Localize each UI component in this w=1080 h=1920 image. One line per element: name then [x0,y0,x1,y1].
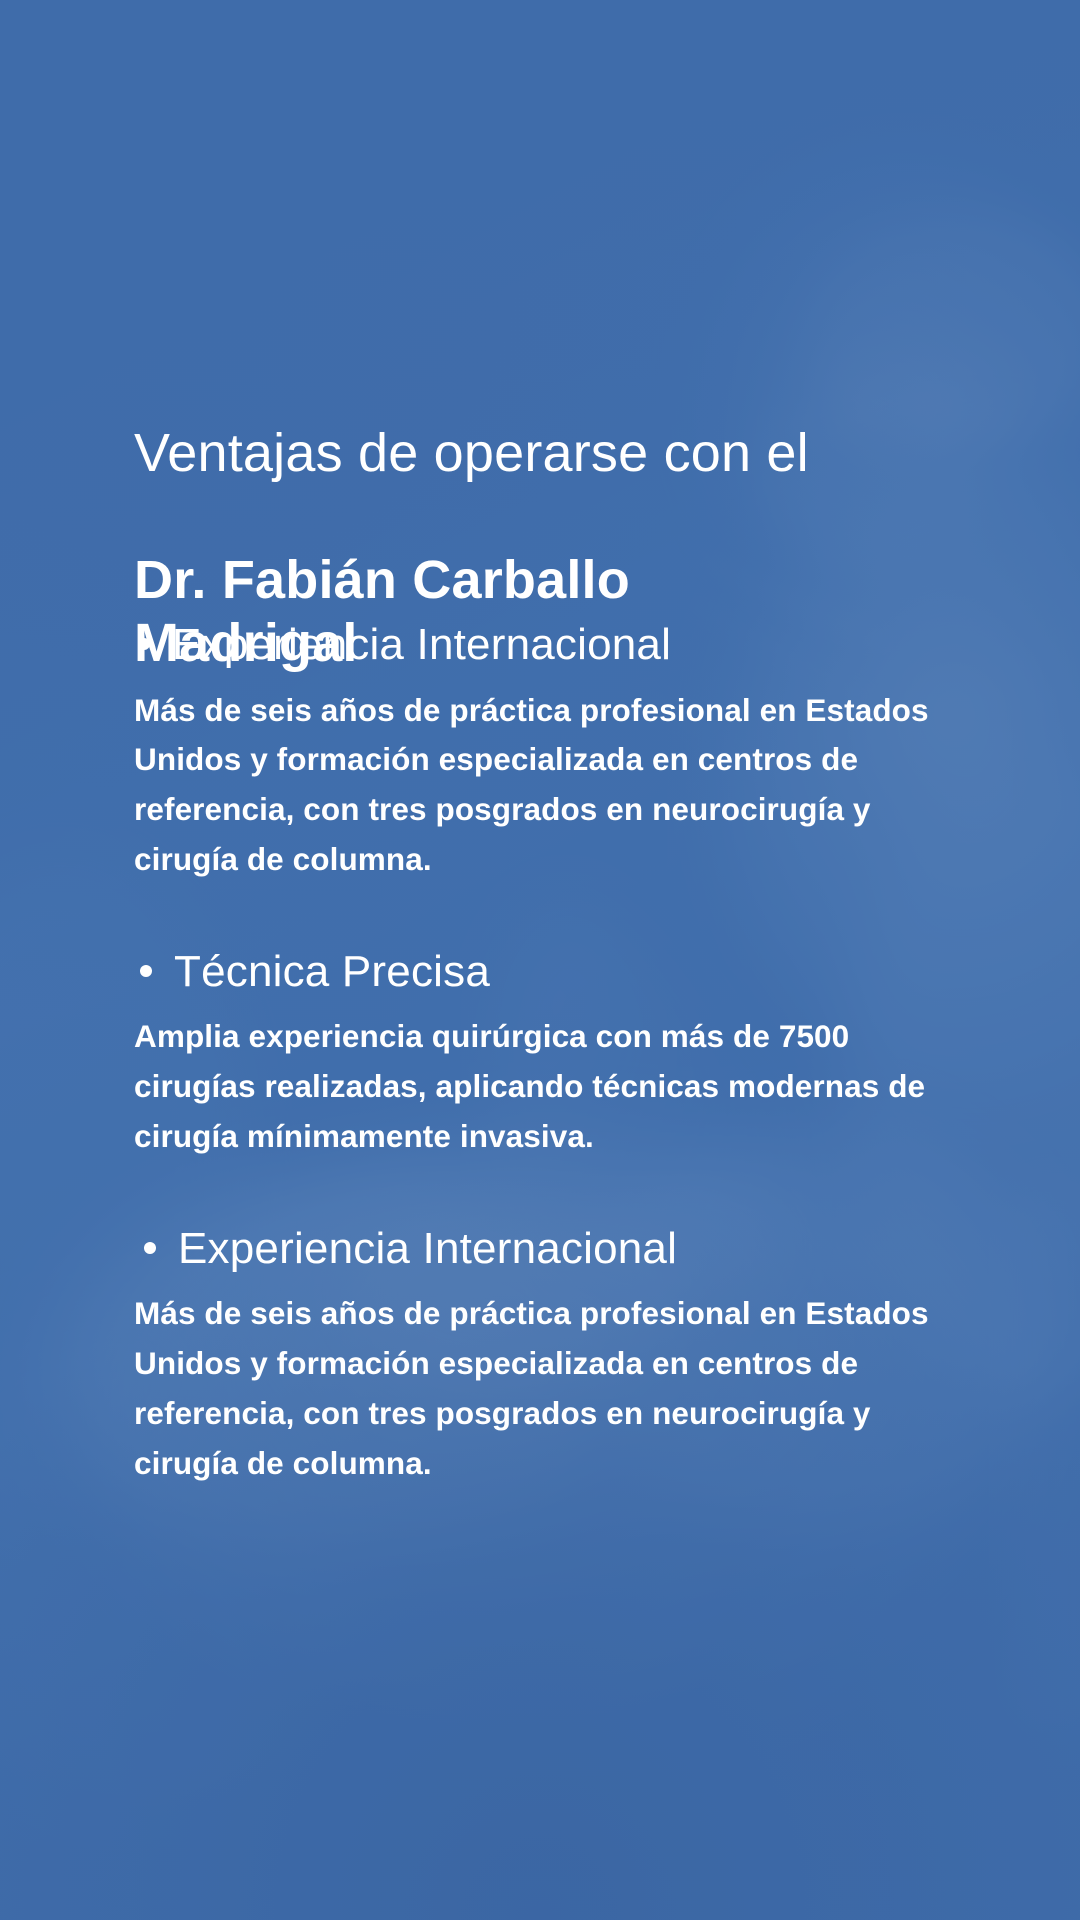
benefit-heading-label: Experiencia Internacional [172,618,671,672]
benefit-body: Más de seis años de práctica profesional… [134,1289,934,1488]
benefit-item: Técnica Precisa Amplia experiencia quirú… [134,945,964,1162]
benefit-item: Experiencia Internacional Más de seis añ… [134,1222,964,1489]
benefit-heading-label: Técnica Precisa [174,945,490,999]
benefit-heading: Experiencia Internacional [134,1222,964,1276]
benefit-body: Más de seis años de práctica profesional… [134,686,934,885]
bullet-icon [138,638,150,650]
bullet-icon [140,965,152,977]
benefits-list: Experiencia Internacional Más de seis añ… [134,618,964,1488]
benefit-heading: Técnica Precisa [134,945,964,999]
bullet-icon [144,1242,156,1254]
slide-content: Ventajas de operarse con el Dr. Fabián C… [0,0,1080,1920]
benefit-heading: Experiencia Internacional [134,618,964,672]
title-line-1: Ventajas de operarse con el [134,422,954,485]
benefit-body: Amplia experiencia quirúrgica con más de… [134,1012,934,1161]
promo-slide: Ventajas de operarse con el Dr. Fabián C… [0,0,1080,1920]
benefit-heading-label: Experiencia Internacional [178,1222,677,1276]
benefit-item: Experiencia Internacional Más de seis añ… [134,618,964,885]
